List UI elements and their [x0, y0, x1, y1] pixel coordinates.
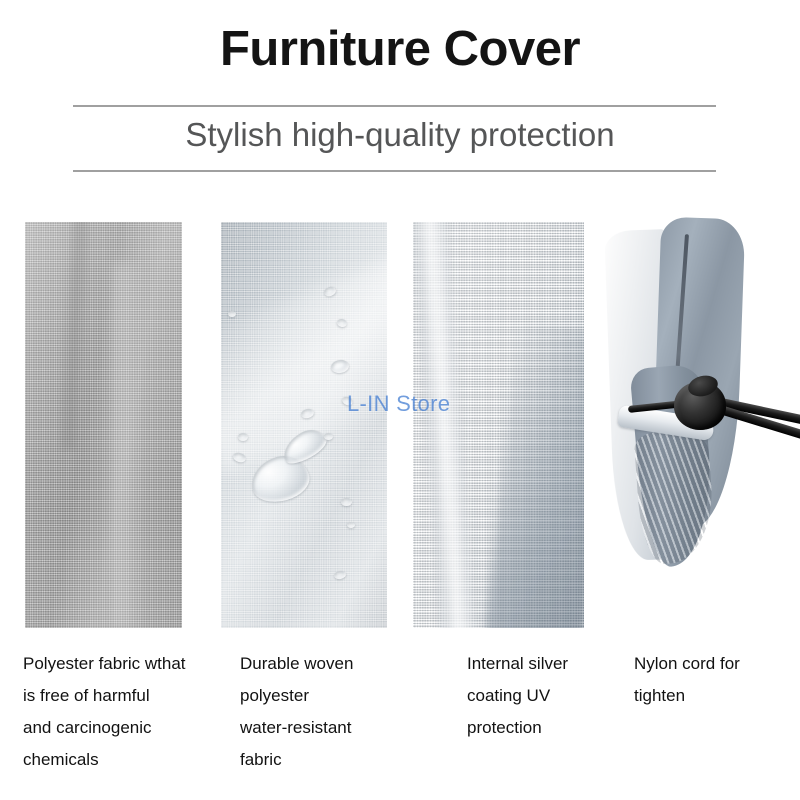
caption-line: Durable woven [240, 648, 400, 680]
caption-polyester-fabric: Polyester fabric wthat is free of harmfu… [23, 648, 208, 776]
caption-line: Polyester fabric wthat [23, 648, 208, 680]
water-droplet-icon [238, 433, 248, 441]
caption-line: protection [467, 712, 617, 744]
caption-line: tighten [634, 680, 794, 712]
caption-line: polyester [240, 680, 400, 712]
fabric-highlight [113, 263, 154, 628]
panel-water-resistant-image [221, 222, 387, 628]
caption-water-resistant: Durable woven polyester water-resistant … [240, 648, 400, 776]
caption-silver-coating: Internal silver coating UV protection [467, 648, 617, 744]
caption-line: is free of harmful [23, 680, 208, 712]
caption-line: Internal silver [467, 648, 617, 680]
panel-silver-coating-image [413, 222, 584, 628]
water-droplet-icon [341, 498, 352, 506]
caption-line: fabric [240, 744, 400, 776]
caption-line: water-resistant [240, 712, 400, 744]
caption-line: and carcinogenic [23, 712, 208, 744]
caption-line: coating UV [467, 680, 617, 712]
caption-nylon-cord: Nylon cord for tighten [634, 648, 794, 712]
fabric-weave-texture [25, 222, 182, 628]
water-droplet-icon [324, 433, 333, 440]
panel-polyester-fabric-image [25, 222, 182, 628]
caption-line: chemicals [23, 744, 208, 776]
infographic-page: Furniture Cover Stylish high-quality pro… [0, 0, 800, 800]
panel-nylon-cord-image [604, 216, 800, 596]
caption-line: Nylon cord for [634, 648, 794, 680]
